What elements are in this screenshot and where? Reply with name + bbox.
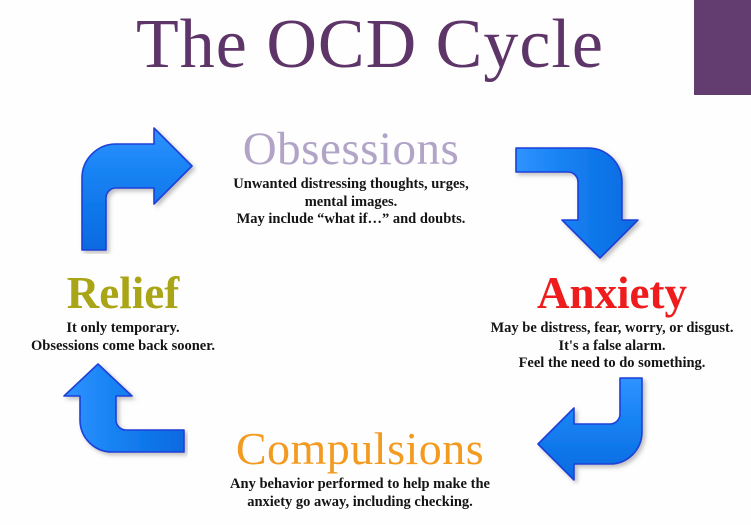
title-bar: The OCD Cycle [0, 0, 751, 100]
curved-arrow-down-icon [512, 136, 648, 264]
cycle-node-compulsions: Compulsions Any behavior performed to he… [185, 424, 535, 511]
node-body-compulsions: Any behavior performed to help make the … [185, 476, 535, 511]
curved-arrow-left-icon [532, 376, 668, 486]
node-heading-obsessions: Obsessions [186, 124, 516, 174]
node-body-line: Unwanted distressing thoughts, urges, [186, 176, 516, 194]
node-body-line: It's a false alarm. [473, 338, 751, 356]
node-body-line: May be distress, fear, worry, or disgust… [473, 320, 751, 338]
node-body-line: mental images. [186, 194, 516, 212]
node-body-line: It only temporary. [0, 320, 246, 338]
node-body-line: May include “what if…” and doubts. [186, 211, 516, 229]
node-body-obsessions: Unwanted distressing thoughts, urges, me… [186, 176, 516, 229]
node-heading-compulsions: Compulsions [185, 424, 535, 474]
curved-arrow-right-icon [62, 126, 198, 254]
node-body-line: Obsessions come back sooner. [0, 338, 246, 356]
node-heading-relief: Relief [0, 268, 246, 318]
cycle-node-obsessions: Obsessions Unwanted distressing thoughts… [186, 124, 516, 229]
node-body-line: anxiety go away, including checking. [185, 494, 535, 512]
node-heading-anxiety: Anxiety [473, 268, 751, 318]
page-title: The OCD Cycle [55, 2, 685, 88]
node-body-anxiety: May be distress, fear, worry, or disgust… [473, 320, 751, 373]
cycle-node-relief: Relief It only temporary. Obsessions com… [0, 268, 246, 355]
title-accent-block [694, 0, 751, 95]
curved-arrow-up-icon [52, 362, 188, 480]
node-body-line: Feel the need to do something. [473, 355, 751, 373]
node-body-line: Any behavior performed to help make the [185, 476, 535, 494]
node-body-relief: It only temporary. Obsessions come back … [0, 320, 246, 355]
cycle-node-anxiety: Anxiety May be distress, fear, worry, or… [473, 268, 751, 373]
ocd-cycle-infographic: The OCD Cycle Obsessions Unwanted distre… [0, 0, 751, 525]
